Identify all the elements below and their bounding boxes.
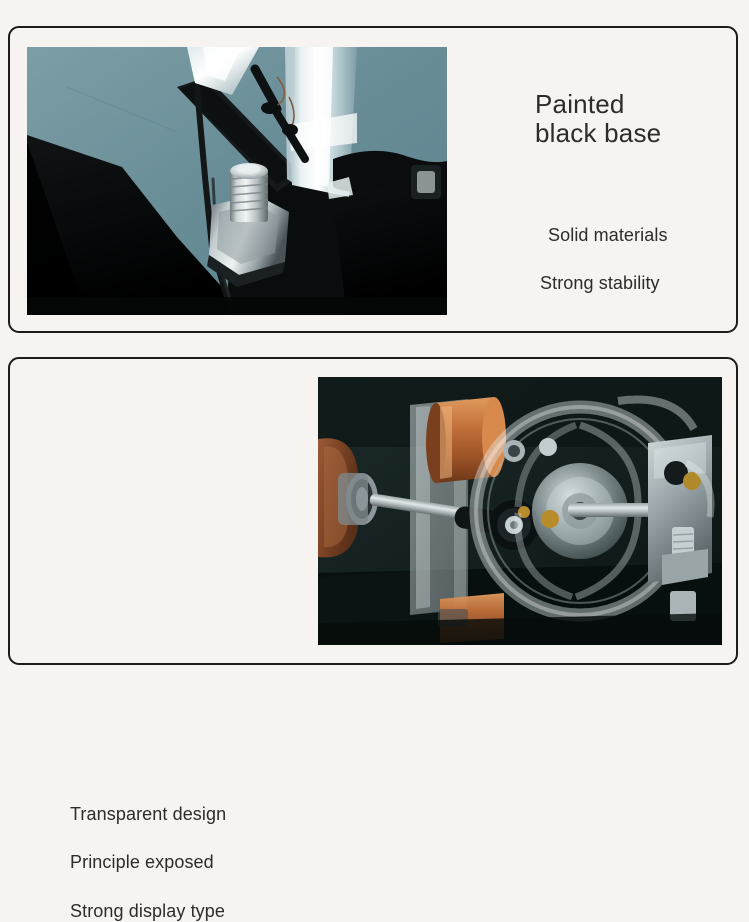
- photo-painted-black-base: [27, 47, 447, 315]
- page-title: Painted black base: [535, 90, 735, 148]
- feature-card-painted-black-base: Painted black base Solid materials Stron…: [8, 26, 738, 333]
- feature-bullet-principle-exposed: Principle exposed: [70, 851, 214, 873]
- feature-bullet-solid-materials: Solid materials: [548, 224, 668, 246]
- feature-bullet-strong-stability: Strong stability: [540, 272, 660, 294]
- feature-bullet-strong-display-type: Strong display type: [70, 900, 225, 922]
- top-card-text-block: Painted black base Solid materials Stron…: [535, 90, 735, 148]
- photo-transparent-stirling-engine: [318, 377, 722, 645]
- feature-card-transparent-design: Transparent design Principle exposed Str…: [8, 357, 738, 665]
- feature-bullet-transparent-design: Transparent design: [70, 803, 226, 825]
